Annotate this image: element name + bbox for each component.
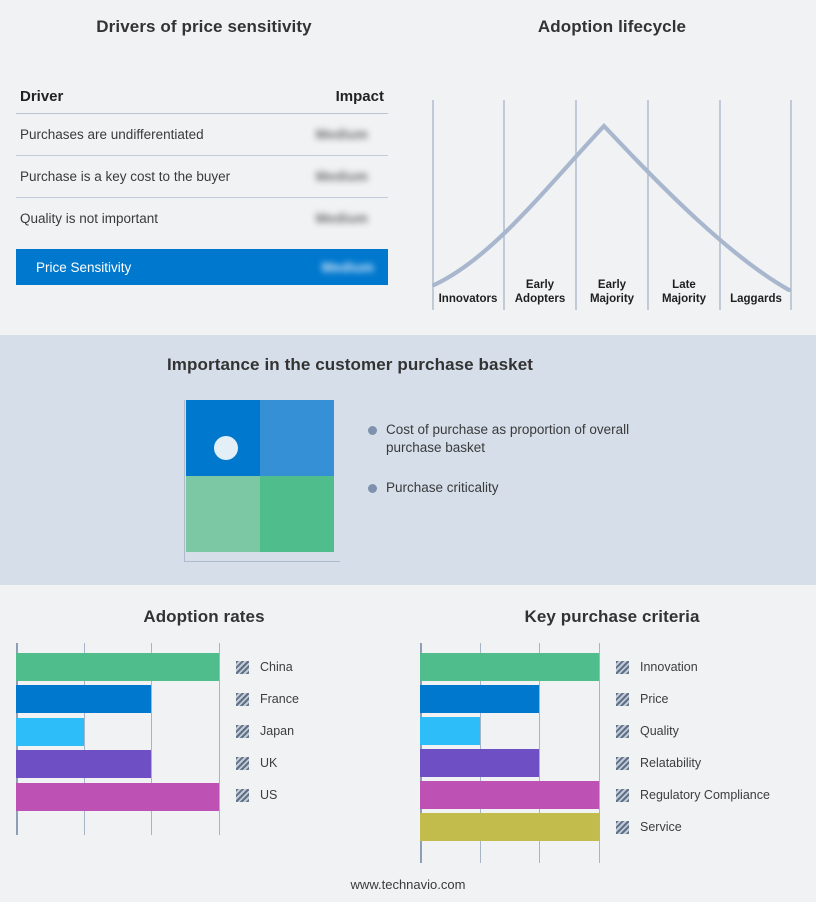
impact-value: Medium xyxy=(322,260,384,275)
lifecycle-stage-labels: Innovators EarlyAdopters EarlyMajority L… xyxy=(432,252,792,310)
legend-item-regulatory-compliance[interactable]: Regulatory Compliance xyxy=(616,779,770,811)
legend-swatch-hatch-icon xyxy=(236,725,249,738)
bar-regulatory-compliance[interactable] xyxy=(420,781,599,809)
legend-label: Purchase criticality xyxy=(386,479,499,497)
bar-service[interactable] xyxy=(420,813,599,841)
list-item: Cost of purchase as proportion of overal… xyxy=(368,421,668,457)
stage-label-line2: Majority xyxy=(590,293,634,305)
key-purchase-criteria-panel: Key purchase criteria InnovationPriceQua… xyxy=(408,585,816,902)
legend-label: China xyxy=(260,660,293,674)
legend-label: Price xyxy=(640,692,668,706)
driver-label: Purchase is a key cost to the buyer xyxy=(20,169,230,184)
adoption-rates-legend: ChinaFranceJapanUKUS xyxy=(236,651,299,811)
table-row[interactable]: Purchases are undifferentiated Medium xyxy=(16,114,388,156)
bar-france[interactable] xyxy=(16,685,151,713)
legend-swatch-hatch-icon xyxy=(616,693,629,706)
legend-swatch-hatch-icon xyxy=(236,789,249,802)
lifecycle-panel: Adoption lifecycle Innovators EarlyAdopt… xyxy=(408,0,816,335)
legend-item-service[interactable]: Service xyxy=(616,811,770,843)
legend-swatch-hatch-icon xyxy=(616,661,629,674)
quadrant-bottom-right[interactable] xyxy=(260,476,334,552)
impact-value: Medium xyxy=(316,127,384,142)
impact-value: Medium xyxy=(316,211,384,226)
driver-label: Quality is not important xyxy=(20,211,158,226)
stage-label-line1: Early xyxy=(526,279,554,291)
lifecycle-panel-title: Adoption lifecycle xyxy=(408,0,816,37)
legend-item-price[interactable]: Price xyxy=(616,683,770,715)
matrix-x-axis xyxy=(184,561,340,562)
adoption-rates-panel: Adoption rates ChinaFranceJapanUKUS xyxy=(0,585,408,902)
bar-uk[interactable] xyxy=(16,750,151,778)
legend-label: France xyxy=(260,692,299,706)
list-item: Purchase criticality xyxy=(368,479,668,497)
matrix-position-marker xyxy=(214,436,238,460)
bar-relatability[interactable] xyxy=(420,749,539,777)
purchase-basket-legend: Cost of purchase as proportion of overal… xyxy=(368,421,668,519)
legend-label: UK xyxy=(260,756,277,770)
driver-label: Purchases are undifferentiated xyxy=(20,127,204,142)
legend-label: Innovation xyxy=(640,660,698,674)
legend-item-relatability[interactable]: Relatability xyxy=(616,747,770,779)
lifecycle-stage-innovators: Innovators xyxy=(432,252,504,310)
bullet-dot-icon xyxy=(368,484,377,493)
key-purchase-criteria-plot xyxy=(420,643,601,863)
bar-china[interactable] xyxy=(16,653,219,681)
table-row[interactable]: Purchase is a key cost to the buyer Medi… xyxy=(16,156,388,198)
stage-label-line1: Innovators xyxy=(439,293,498,305)
bar-innovation[interactable] xyxy=(420,653,599,681)
stage-label-line2: Adopters xyxy=(515,293,565,305)
footer-url: www.technavio.com xyxy=(0,877,816,892)
quadrant-top-right[interactable] xyxy=(260,400,334,476)
adoption-rates-title: Adoption rates xyxy=(0,585,408,627)
bar-price[interactable] xyxy=(420,685,539,713)
stage-label-line1: Laggards xyxy=(730,293,782,305)
lifecycle-stage-laggards: Laggards xyxy=(720,252,792,310)
matrix-y-axis xyxy=(184,400,185,562)
bar-quality[interactable] xyxy=(420,717,480,745)
legend-label: Relatability xyxy=(640,756,701,770)
lifecycle-stage-early-majority: EarlyMajority xyxy=(576,252,648,310)
legend-label: Cost of purchase as proportion of overal… xyxy=(386,421,644,457)
drivers-panel: Drivers of price sensitivity Driver Impa… xyxy=(0,0,408,335)
legend-label: Quality xyxy=(640,724,679,738)
legend-label: Service xyxy=(640,820,682,834)
bar-us[interactable] xyxy=(16,783,219,811)
table-row-highlighted-price-sensitivity[interactable]: Price Sensitivity Medium xyxy=(16,249,388,285)
column-header-driver: Driver xyxy=(20,88,63,105)
purchase-basket-panel: Importance in the customer purchase bask… xyxy=(0,335,816,585)
legend-label: Japan xyxy=(260,724,294,738)
key-purchase-criteria-legend: InnovationPriceQualityRelatabilityRegula… xyxy=(616,651,770,843)
legend-swatch-hatch-icon xyxy=(616,821,629,834)
legend-swatch-hatch-icon xyxy=(236,661,249,674)
purchase-basket-panel-title: Importance in the customer purchase bask… xyxy=(0,335,700,375)
legend-item-japan[interactable]: Japan xyxy=(236,715,299,747)
legend-label: Regulatory Compliance xyxy=(640,788,770,802)
legend-swatch-hatch-icon xyxy=(236,693,249,706)
bar-japan[interactable] xyxy=(16,718,84,746)
legend-swatch-hatch-icon xyxy=(616,757,629,770)
legend-item-france[interactable]: France xyxy=(236,683,299,715)
driver-label: Price Sensitivity xyxy=(36,260,131,275)
drivers-panel-title: Drivers of price sensitivity xyxy=(0,0,408,37)
stage-label-line1: Late xyxy=(672,279,696,291)
legend-label: US xyxy=(260,788,277,802)
lifecycle-stage-early-adopters: EarlyAdopters xyxy=(504,252,576,310)
quadrant-matrix-chart xyxy=(180,400,340,565)
table-row[interactable]: Quality is not important Medium xyxy=(16,198,388,239)
adoption-rates-plot xyxy=(16,643,221,835)
legend-item-china[interactable]: China xyxy=(236,651,299,683)
chart-gridline xyxy=(599,643,600,863)
legend-item-uk[interactable]: UK xyxy=(236,747,299,779)
key-purchase-criteria-title: Key purchase criteria xyxy=(408,585,816,627)
stage-label-line1: Early xyxy=(598,279,626,291)
drivers-table: Driver Impact Purchases are undifferenti… xyxy=(16,88,388,285)
legend-item-us[interactable]: US xyxy=(236,779,299,811)
legend-swatch-hatch-icon xyxy=(616,725,629,738)
quadrant-matrix xyxy=(186,400,334,552)
chart-gridline xyxy=(219,643,220,835)
stage-label-line2: Majority xyxy=(662,293,706,305)
quadrant-bottom-left[interactable] xyxy=(186,476,260,552)
impact-value: Medium xyxy=(316,169,384,184)
legend-swatch-hatch-icon xyxy=(616,789,629,802)
lifecycle-stage-late-majority: LateMajority xyxy=(648,252,720,310)
legend-item-innovation[interactable]: Innovation xyxy=(616,651,770,683)
legend-swatch-hatch-icon xyxy=(236,757,249,770)
column-header-impact: Impact xyxy=(336,88,384,105)
drivers-table-header: Driver Impact xyxy=(16,88,388,114)
bullet-dot-icon xyxy=(368,426,377,435)
legend-item-quality[interactable]: Quality xyxy=(616,715,770,747)
